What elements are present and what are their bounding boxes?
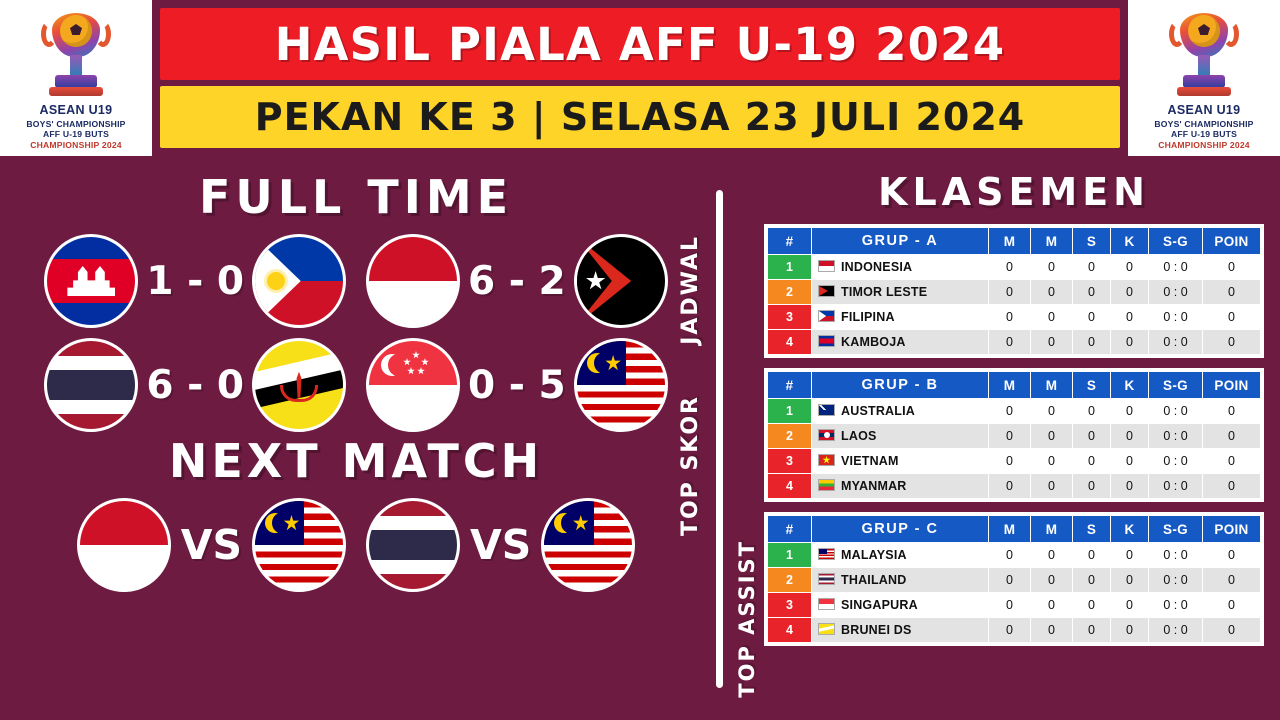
- flag-icon-vietnam: [818, 454, 835, 466]
- cell-s: 0: [1073, 568, 1111, 593]
- table-row: 2 TIMOR LESTE 0 0 0 0 0 : 0 0: [768, 280, 1261, 305]
- col-k: K: [1111, 228, 1149, 255]
- cell-s: 0: [1073, 305, 1111, 330]
- cell-sg: 0 : 0: [1149, 593, 1203, 618]
- match-score: 1 - 0: [138, 259, 252, 304]
- cell-team: VIETNAM: [812, 449, 989, 474]
- logo-line1: ASEAN U19: [1154, 103, 1253, 119]
- cell-m2: 0: [1031, 399, 1073, 424]
- flag-indonesia: [77, 498, 171, 592]
- logo-line2: BOYS' CHAMPIONSHIP: [26, 119, 125, 130]
- standings-table-group-a: # GRUP - A M M S K S-G POIN 1 INDONESIA: [764, 224, 1264, 358]
- logo-right: ASEAN U19 BOYS' CHAMPIONSHIP AFF U-19 BU…: [1128, 0, 1280, 156]
- vertical-label-top-skor: TOP SKOR: [678, 395, 703, 536]
- cell-team: LAOS: [812, 424, 989, 449]
- cell-sg: 0 : 0: [1149, 255, 1203, 280]
- title-secondary-text: PEKAN KE 3 | SELASA 23 JULI 2024: [255, 95, 1026, 139]
- cell-m2: 0: [1031, 424, 1073, 449]
- cell-m2: 0: [1031, 330, 1073, 355]
- match-row: 1 - 0 6 - 2: [0, 234, 712, 328]
- flag-icon-myanmar: [818, 479, 835, 491]
- standings-panel: KLASEMEN # GRUP - A M M S K S-G POIN: [756, 170, 1276, 646]
- flag-timor-leste: [574, 234, 668, 328]
- cell-s: 0: [1073, 255, 1111, 280]
- cell-sg: 0 : 0: [1149, 618, 1203, 643]
- team-label: AUSTRALIA: [841, 404, 915, 418]
- flag-malaysia: [252, 498, 346, 592]
- cell-m2: 0: [1031, 255, 1073, 280]
- cell-poin: 0: [1203, 330, 1261, 355]
- table-row: 1 AUSTRALIA 0 0 0 0 0 : 0 0: [768, 399, 1261, 424]
- cell-team: FILIPINA: [812, 305, 989, 330]
- match-fixture: 1 - 0: [44, 234, 346, 328]
- trophy-icon: [39, 9, 113, 101]
- cell-team: SINGAPURA: [812, 593, 989, 618]
- cell-m2: 0: [1031, 543, 1073, 568]
- cell-poin: 0: [1203, 474, 1261, 499]
- col-rank: #: [768, 372, 812, 399]
- team-label: INDONESIA: [841, 260, 912, 274]
- match-score: 6 - 0: [138, 363, 252, 408]
- cell-poin: 0: [1203, 449, 1261, 474]
- standings-table-group-b: # GRUP - B M M S K S-G POIN 1 AUSTRALIA: [764, 368, 1264, 502]
- cell-s: 0: [1073, 330, 1111, 355]
- cell-k: 0: [1111, 424, 1149, 449]
- cell-m2: 0: [1031, 449, 1073, 474]
- header: ASEAN U19 BOYS' CHAMPIONSHIP AFF U-19 BU…: [0, 0, 1280, 156]
- col-sg: S-G: [1149, 516, 1203, 543]
- cell-s: 0: [1073, 593, 1111, 618]
- cell-m1: 0: [989, 543, 1031, 568]
- cell-k: 0: [1111, 399, 1149, 424]
- cell-poin: 0: [1203, 424, 1261, 449]
- cell-k: 0: [1111, 543, 1149, 568]
- match-vs: VS: [171, 521, 252, 569]
- flag-icon-singapura: [818, 598, 835, 610]
- col-s: S: [1073, 516, 1111, 543]
- flag-thailand: [366, 498, 460, 592]
- team-label: MALAYSIA: [841, 548, 907, 562]
- match-row: 6 - 0 0 - 5: [0, 338, 712, 432]
- cell-m1: 0: [989, 305, 1031, 330]
- cell-rank: 1: [768, 399, 812, 424]
- table-row: 4 BRUNEI DS 0 0 0 0 0 : 0 0: [768, 618, 1261, 643]
- table-header-row: # GRUP - B M M S K S-G POIN: [768, 372, 1261, 399]
- cell-k: 0: [1111, 280, 1149, 305]
- full-time-heading: FULL TIME: [0, 170, 712, 224]
- cell-k: 0: [1111, 449, 1149, 474]
- cell-rank: 4: [768, 330, 812, 355]
- logo-left: ASEAN U19 BOYS' CHAMPIONSHIP AFF U-19 BU…: [0, 0, 152, 156]
- flag-icon-malaysia: [818, 548, 835, 560]
- cell-team: INDONESIA: [812, 255, 989, 280]
- title-primary-text: HASIL PIALA AFF U-19 2024: [275, 18, 1005, 71]
- table-row: 2 THAILAND 0 0 0 0 0 : 0 0: [768, 568, 1261, 593]
- table-row: 3 SINGAPURA 0 0 0 0 0 : 0 0: [768, 593, 1261, 618]
- title-stack: HASIL PIALA AFF U-19 2024 PEKAN KE 3 | S…: [152, 0, 1128, 156]
- cell-m2: 0: [1031, 618, 1073, 643]
- cell-sg: 0 : 0: [1149, 543, 1203, 568]
- cell-m2: 0: [1031, 280, 1073, 305]
- cell-team: THAILAND: [812, 568, 989, 593]
- flag-thailand: [44, 338, 138, 432]
- cell-rank: 3: [768, 449, 812, 474]
- table-row: 1 MALAYSIA 0 0 0 0 0 : 0 0: [768, 543, 1261, 568]
- cell-sg: 0 : 0: [1149, 399, 1203, 424]
- cell-m1: 0: [989, 618, 1031, 643]
- cell-poin: 0: [1203, 399, 1261, 424]
- logo-line4: CHAMPIONSHIP 2024: [26, 140, 125, 151]
- cell-s: 0: [1073, 543, 1111, 568]
- cell-k: 0: [1111, 568, 1149, 593]
- cell-sg: 0 : 0: [1149, 449, 1203, 474]
- standings-heading: KLASEMEN: [764, 170, 1264, 214]
- team-label: VIETNAM: [841, 454, 899, 468]
- col-m1: M: [989, 228, 1031, 255]
- vertical-divider: [716, 190, 723, 688]
- flag-icon-indonesia: [818, 260, 835, 272]
- cell-m2: 0: [1031, 568, 1073, 593]
- cell-poin: 0: [1203, 543, 1261, 568]
- col-m2: M: [1031, 372, 1073, 399]
- cell-poin: 0: [1203, 568, 1261, 593]
- col-rank: #: [768, 516, 812, 543]
- match-score: 6 - 2: [460, 259, 574, 304]
- cell-team: TIMOR LESTE: [812, 280, 989, 305]
- team-label: TIMOR LESTE: [841, 285, 927, 299]
- col-group: GRUP - C: [812, 516, 989, 543]
- table-header-row: # GRUP - A M M S K S-G POIN: [768, 228, 1261, 255]
- team-label: SINGAPURA: [841, 598, 918, 612]
- vertical-label-jadwal: JADWAL: [678, 235, 703, 345]
- cell-s: 0: [1073, 474, 1111, 499]
- match-fixture: VS: [77, 498, 346, 592]
- cell-s: 0: [1073, 280, 1111, 305]
- cell-s: 0: [1073, 449, 1111, 474]
- logo-line1: ASEAN U19: [26, 103, 125, 119]
- flag-brunei: [252, 338, 346, 432]
- next-match-heading: NEXT MATCH: [0, 434, 712, 488]
- match-fixture: 0 - 5: [366, 338, 668, 432]
- cell-m1: 0: [989, 399, 1031, 424]
- flag-icon-laos: [818, 429, 835, 441]
- team-label: LAOS: [841, 429, 877, 443]
- cell-poin: 0: [1203, 593, 1261, 618]
- cell-sg: 0 : 0: [1149, 305, 1203, 330]
- cell-m1: 0: [989, 255, 1031, 280]
- cell-m1: 0: [989, 280, 1031, 305]
- flag-icon-kamboja: [818, 335, 835, 347]
- cell-team: BRUNEI DS: [812, 618, 989, 643]
- cell-sg: 0 : 0: [1149, 330, 1203, 355]
- col-m1: M: [989, 516, 1031, 543]
- col-s: S: [1073, 228, 1111, 255]
- cell-k: 0: [1111, 255, 1149, 280]
- logo-line3: AFF U-19 BUTS: [26, 129, 125, 140]
- match-row: VS VS: [0, 498, 712, 592]
- match-score: 0 - 5: [460, 363, 574, 408]
- cell-m2: 0: [1031, 474, 1073, 499]
- col-poin: POIN: [1203, 228, 1261, 255]
- team-label: FILIPINA: [841, 310, 895, 324]
- table-header-row: # GRUP - C M M S K S-G POIN: [768, 516, 1261, 543]
- col-k: K: [1111, 516, 1149, 543]
- poster-root: ASEAN U19 BOYS' CHAMPIONSHIP AFF U-19 BU…: [0, 0, 1280, 720]
- team-label: THAILAND: [841, 573, 906, 587]
- flag-singapore: [366, 338, 460, 432]
- flag-indonesia: [366, 234, 460, 328]
- cell-s: 0: [1073, 618, 1111, 643]
- flag-malaysia: [541, 498, 635, 592]
- cell-team: KAMBOJA: [812, 330, 989, 355]
- cell-team: MYANMAR: [812, 474, 989, 499]
- cell-rank: 1: [768, 255, 812, 280]
- cell-m1: 0: [989, 568, 1031, 593]
- flag-icon-australia: [818, 404, 835, 416]
- logo-line4: CHAMPIONSHIP 2024: [1154, 140, 1253, 151]
- cell-poin: 0: [1203, 618, 1261, 643]
- col-m1: M: [989, 372, 1031, 399]
- cell-poin: 0: [1203, 305, 1261, 330]
- cell-rank: 2: [768, 280, 812, 305]
- team-label: MYANMAR: [841, 479, 907, 493]
- cell-team: MALAYSIA: [812, 543, 989, 568]
- col-rank: #: [768, 228, 812, 255]
- match-fixture: VS: [366, 498, 635, 592]
- flag-icon-thailand: [818, 573, 835, 585]
- cell-rank: 3: [768, 305, 812, 330]
- title-banner-secondary: PEKAN KE 3 | SELASA 23 JULI 2024: [160, 86, 1120, 148]
- match-fixture: 6 - 2: [366, 234, 668, 328]
- cell-rank: 1: [768, 543, 812, 568]
- team-label: BRUNEI DS: [841, 623, 912, 637]
- cell-rank: 4: [768, 618, 812, 643]
- table-row: 3 FILIPINA 0 0 0 0 0 : 0 0: [768, 305, 1261, 330]
- logo-line3: AFF U-19 BUTS: [1154, 129, 1253, 140]
- cell-poin: 0: [1203, 255, 1261, 280]
- flag-icon-filipina: [818, 310, 835, 322]
- cell-rank: 3: [768, 593, 812, 618]
- flag-malaysia: [574, 338, 668, 432]
- table-row: 2 LAOS 0 0 0 0 0 : 0 0: [768, 424, 1261, 449]
- cell-m2: 0: [1031, 305, 1073, 330]
- cell-rank: 4: [768, 474, 812, 499]
- trophy-icon: [1167, 9, 1241, 101]
- cell-m1: 0: [989, 474, 1031, 499]
- col-poin: POIN: [1203, 516, 1261, 543]
- cell-team: AUSTRALIA: [812, 399, 989, 424]
- cell-rank: 2: [768, 424, 812, 449]
- cell-sg: 0 : 0: [1149, 474, 1203, 499]
- col-m2: M: [1031, 228, 1073, 255]
- flag-icon-timor-leste: [818, 285, 835, 297]
- cell-k: 0: [1111, 593, 1149, 618]
- col-poin: POIN: [1203, 372, 1261, 399]
- col-s: S: [1073, 372, 1111, 399]
- standings-table-group-c: # GRUP - C M M S K S-G POIN 1 MALAYSIA 0: [764, 512, 1264, 646]
- table-row: 4 KAMBOJA 0 0 0 0 0 : 0 0: [768, 330, 1261, 355]
- col-group: GRUP - B: [812, 372, 989, 399]
- cell-poin: 0: [1203, 280, 1261, 305]
- cell-s: 0: [1073, 399, 1111, 424]
- col-group: GRUP - A: [812, 228, 989, 255]
- col-sg: S-G: [1149, 228, 1203, 255]
- cell-m1: 0: [989, 424, 1031, 449]
- flag-philippines: [252, 234, 346, 328]
- cell-k: 0: [1111, 305, 1149, 330]
- table-row: 3 VIETNAM 0 0 0 0 0 : 0 0: [768, 449, 1261, 474]
- cell-sg: 0 : 0: [1149, 280, 1203, 305]
- table-row: 1 INDONESIA 0 0 0 0 0 : 0 0: [768, 255, 1261, 280]
- flag-cambodia: [44, 234, 138, 328]
- title-banner-primary: HASIL PIALA AFF U-19 2024: [160, 8, 1120, 80]
- logo-line2: BOYS' CHAMPIONSHIP: [1154, 119, 1253, 130]
- cell-sg: 0 : 0: [1149, 568, 1203, 593]
- cell-s: 0: [1073, 424, 1111, 449]
- cell-sg: 0 : 0: [1149, 424, 1203, 449]
- results-panel: FULL TIME 1 - 0 6 - 2 6 - 0: [0, 156, 712, 720]
- team-label: KAMBOJA: [841, 335, 906, 349]
- cell-m1: 0: [989, 593, 1031, 618]
- flag-icon-brunei: [818, 623, 835, 635]
- col-sg: S-G: [1149, 372, 1203, 399]
- cell-m2: 0: [1031, 593, 1073, 618]
- col-m2: M: [1031, 516, 1073, 543]
- cell-k: 0: [1111, 330, 1149, 355]
- cell-k: 0: [1111, 474, 1149, 499]
- match-fixture: 6 - 0: [44, 338, 346, 432]
- table-row: 4 MYANMAR 0 0 0 0 0 : 0 0: [768, 474, 1261, 499]
- cell-rank: 2: [768, 568, 812, 593]
- col-k: K: [1111, 372, 1149, 399]
- cell-m1: 0: [989, 449, 1031, 474]
- cell-k: 0: [1111, 618, 1149, 643]
- match-vs: VS: [460, 521, 541, 569]
- cell-m1: 0: [989, 330, 1031, 355]
